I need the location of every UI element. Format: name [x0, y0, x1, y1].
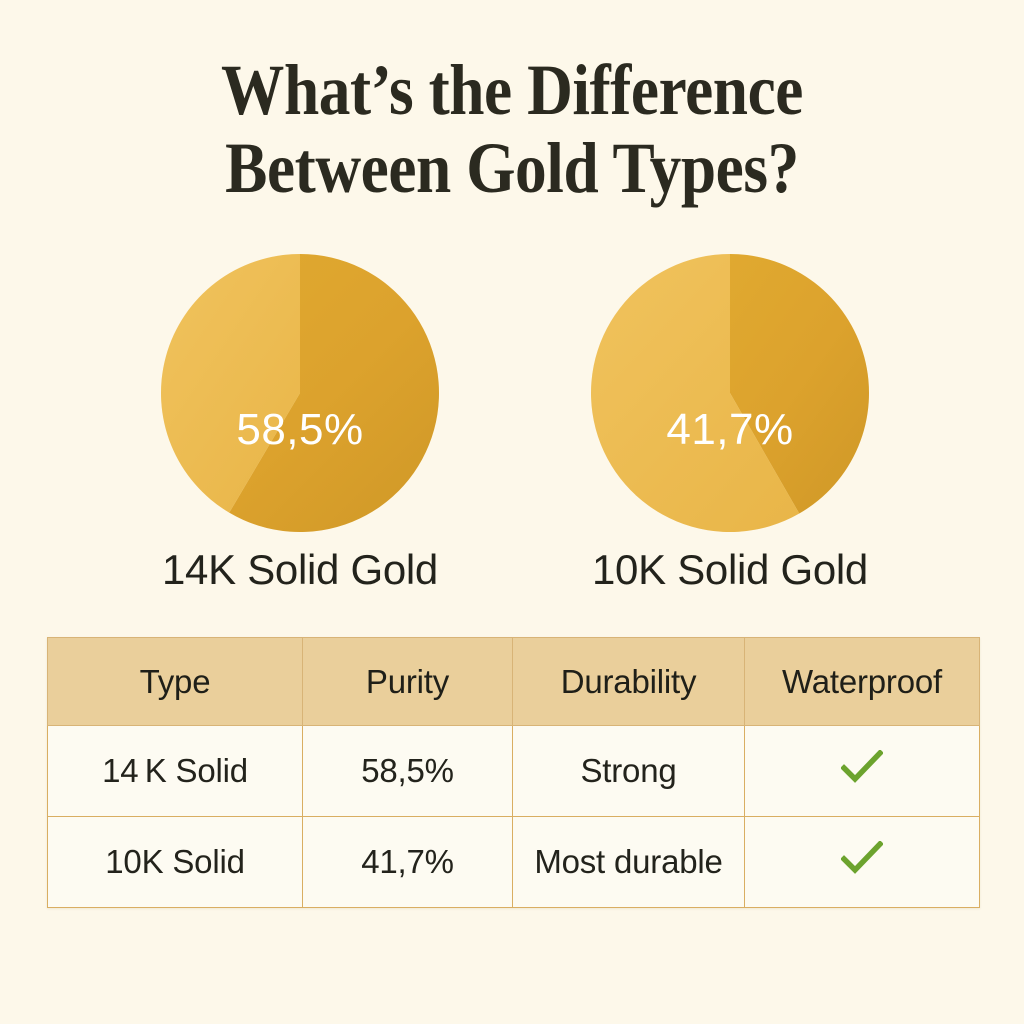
- page-title-line-1: What’s the Difference: [61, 52, 962, 130]
- table-header-row: Type Purity Durability Waterproof: [48, 638, 980, 726]
- table-body: 14 K Solid 58,5% Strong 10K Solid 41,7% …: [48, 726, 980, 908]
- cell-purity: 41,7%: [303, 817, 513, 908]
- pie-chart-group: 58,5% 41,7%: [0, 253, 1024, 533]
- column-header-purity: Purity: [303, 638, 513, 726]
- pie-caption-14k: 14K Solid Gold: [100, 546, 500, 594]
- pie-chart-10k: 41,7%: [590, 253, 870, 533]
- pie-chart-10k-graphic: [590, 253, 870, 533]
- cell-durability: Strong: [513, 726, 745, 817]
- cell-waterproof: [745, 726, 980, 817]
- infographic-canvas: What’s the Difference Between Gold Types…: [0, 0, 1024, 1024]
- checkmark-icon: [841, 750, 883, 784]
- cell-purity: 58,5%: [303, 726, 513, 817]
- page-title: What’s the Difference Between Gold Types…: [61, 52, 962, 208]
- pie-caption-10k: 10K Solid Gold: [530, 546, 930, 594]
- cell-waterproof: [745, 817, 980, 908]
- pie-caption-group: 14K Solid Gold 10K Solid Gold: [0, 546, 1024, 608]
- cell-durability: Most durable: [513, 817, 745, 908]
- page-title-line-2: Between Gold Types?: [61, 130, 962, 208]
- checkmark-icon: [841, 841, 883, 875]
- table-row: 14 K Solid 58,5% Strong: [48, 726, 980, 817]
- column-header-durability: Durability: [513, 638, 745, 726]
- pie-chart-14k-graphic: [160, 253, 440, 533]
- column-header-type: Type: [48, 638, 303, 726]
- cell-type: 14 K Solid: [48, 726, 303, 817]
- table-header: Type Purity Durability Waterproof: [48, 638, 980, 726]
- cell-type: 10K Solid: [48, 817, 303, 908]
- gold-comparison-table: Type Purity Durability Waterproof 14 K S…: [47, 637, 980, 908]
- table-row: 10K Solid 41,7% Most durable: [48, 817, 980, 908]
- column-header-waterproof: Waterproof: [745, 638, 980, 726]
- pie-chart-14k: 58,5%: [160, 253, 440, 533]
